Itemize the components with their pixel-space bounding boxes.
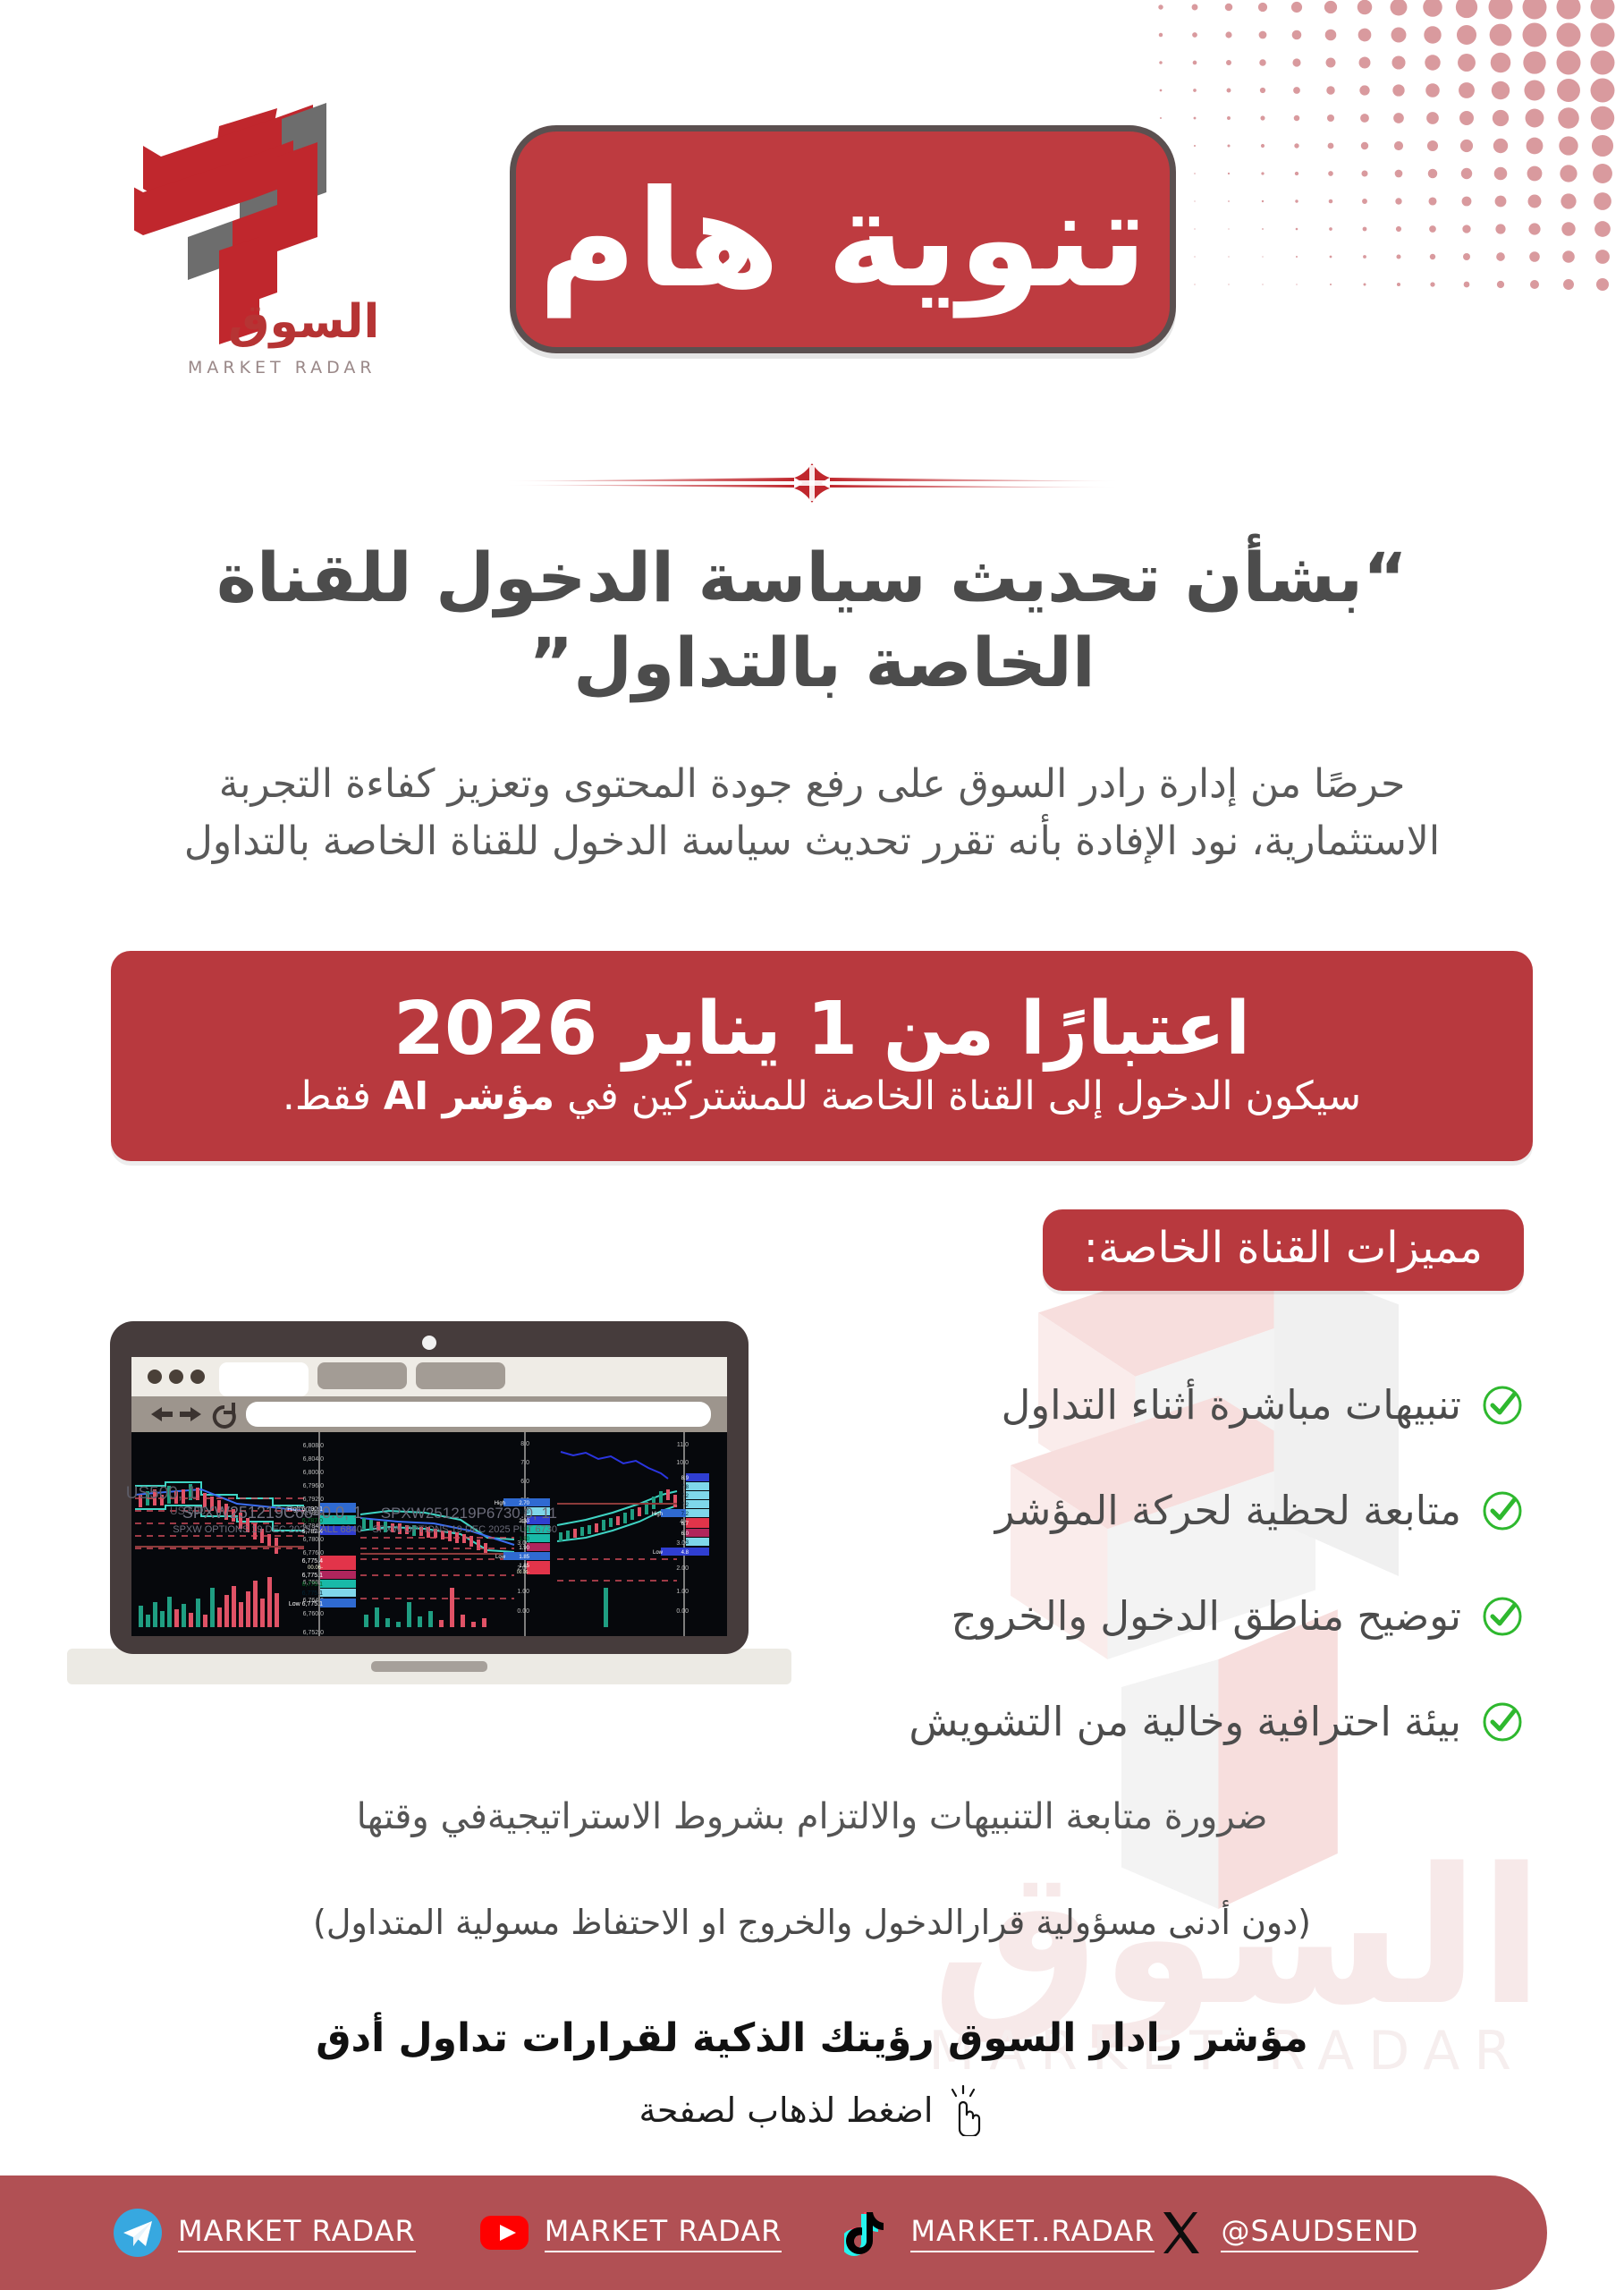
- notice-badge-label: تنوية هام: [538, 173, 1147, 307]
- svg-text:6,752.0: 6,752.0: [303, 1630, 324, 1636]
- check-circle-icon: [1481, 1701, 1524, 1743]
- x-twitter-icon: [1155, 2207, 1206, 2259]
- page-title: “بشأن تحديث سياسة الدخول للقناة الخاصة ب…: [0, 535, 1624, 705]
- svg-text:6.7: 6.7: [681, 1522, 689, 1527]
- social-label: @SAUDSEND: [1221, 2214, 1418, 2252]
- svg-text:-00.06: -00.06: [517, 1570, 530, 1575]
- svg-text:Low: Low: [495, 1555, 506, 1560]
- brand-name-en: MARKET RADAR: [188, 358, 376, 377]
- note-disclaimer: (دون أدنى مسؤولية قرارالدخول والخروج او …: [0, 1901, 1624, 1945]
- detail-post: فقط.: [283, 1073, 384, 1119]
- chart-symbol-label: US500, 1: [126, 1484, 197, 1503]
- svg-text:1.00: 1.00: [517, 1589, 529, 1595]
- svg-text:6,804.0: 6,804.0: [303, 1456, 324, 1463]
- social-link-tiktok[interactable]: MARKET..RADAR: [844, 2207, 1155, 2259]
- ornamental-divider-icon: [499, 452, 1125, 514]
- youtube-icon: [478, 2207, 530, 2259]
- address-bar: [246, 1402, 711, 1427]
- svg-text:6,776.0: 6,776.0: [303, 1550, 324, 1556]
- social-link-x[interactable]: @SAUDSEND: [1155, 2207, 1418, 2259]
- svg-text:7.8: 7.8: [681, 1485, 689, 1490]
- social-link-youtube[interactable]: MARKET RADAR: [478, 2207, 782, 2259]
- browser-tab-active: [219, 1362, 309, 1396]
- svg-text:6,780.0: 6,780.0: [303, 1537, 324, 1543]
- note-obligation: ضرورة متابعة التنبيهات والالتزام بشروط ا…: [0, 1794, 1624, 1840]
- svg-text:7.2: 7.2: [681, 1494, 689, 1499]
- svg-text:6,808.0: 6,808.0: [303, 1443, 324, 1449]
- svg-text:5.3: 5.3: [681, 1540, 689, 1546]
- svg-text:1.00: 1.00: [676, 1589, 689, 1595]
- svg-text:6,792.0: 6,792.0: [303, 1497, 324, 1503]
- chart-desc-label: SPXW OPTIONS 19 DEC 2025 PUT 6730: [373, 1524, 557, 1535]
- svg-text:8.0: 8.0: [520, 1441, 529, 1447]
- svg-text:High: High: [652, 1512, 663, 1517]
- laptop-device: US500, 1 US 500 6,808.06,804.06,800.0 6,…: [67, 1319, 791, 1700]
- svg-text:Low 6,775.1: Low 6,775.1: [289, 1601, 323, 1607]
- social-label: MARKET RADAR: [178, 2214, 416, 2252]
- svg-text:10.0: 10.0: [676, 1460, 689, 1466]
- svg-text:1.85: 1.85: [519, 1564, 529, 1569]
- social-link-telegram[interactable]: MARKET RADAR: [112, 2207, 416, 2259]
- svg-text:6,760.0: 6,760.0: [303, 1611, 324, 1617]
- svg-text:6,775.1: 6,775.1: [302, 1582, 323, 1588]
- feature-label: بيئة احترافية وخالية من التشويش: [909, 1699, 1461, 1745]
- svg-text:0.00: 0.00: [676, 1608, 689, 1615]
- social-footer: @SAUDSEND MARKET..RADAR MARKET RADAR: [0, 2175, 1547, 2290]
- features-section-title: مميزات القناة الخاصة:: [1043, 1209, 1524, 1291]
- window-dots: [148, 1370, 162, 1384]
- svg-text:6,775.1: 6,775.1: [302, 1590, 323, 1597]
- cta-row[interactable]: اضغط لذهاب لصفحة: [0, 2084, 1624, 2136]
- svg-text:2.00: 2.00: [676, 1565, 689, 1572]
- svg-text:6,775.1: 6,775.1: [302, 1573, 323, 1579]
- svg-text:1.85: 1.85: [519, 1555, 529, 1560]
- feature-label: متابعة لحظية لحركة المؤشر: [995, 1488, 1461, 1534]
- chart-desc-label: SPXW OPTIONS 19 DEC 2025 CALL 6840: [173, 1524, 362, 1535]
- laptop-trackpad-notch: [371, 1661, 487, 1672]
- svg-text:6.0: 6.0: [681, 1531, 689, 1537]
- tiktok-icon: [844, 2207, 896, 2259]
- svg-text:0.00: 0.00: [517, 1608, 529, 1615]
- svg-text:7.0: 7.0: [520, 1460, 529, 1466]
- svg-text:-00.06: -00.06: [308, 1565, 323, 1571]
- detail-pre: سيكون الدخول إلى القناة الخاصة للمشتركين…: [554, 1073, 1361, 1119]
- social-label: MARKET RADAR: [545, 2214, 782, 2252]
- list-item: متابعة لحظية لحركة المؤشر: [773, 1458, 1524, 1564]
- laptop-camera-icon: [422, 1336, 436, 1350]
- social-label: MARKET..RADAR: [910, 2214, 1155, 2252]
- important-notice-badge: تنوية هام: [510, 125, 1176, 353]
- svg-text:7.2: 7.2: [681, 1512, 689, 1517]
- chart-symbol-label: SPXW251219P6730.0, 11: [381, 1505, 557, 1522]
- feature-label: تنبيهات مباشرة أثناء التداول: [1002, 1382, 1461, 1429]
- svg-text:7.2: 7.2: [681, 1503, 689, 1508]
- tagline: مؤشر رادار السوق رؤيتك الذكية لقرارات تد…: [0, 2013, 1624, 2064]
- features-title-label: مميزات القناة الخاصة:: [1084, 1223, 1483, 1273]
- telegram-icon: [112, 2207, 164, 2259]
- cta-label: اضغط لذهاب لصفحة: [639, 2093, 934, 2127]
- svg-text:6,796.0: 6,796.0: [303, 1483, 324, 1489]
- feature-label: توضيح مناطق الدخول والخروج: [952, 1593, 1461, 1640]
- svg-text:6,800.0: 6,800.0: [303, 1470, 324, 1476]
- header: السوق MARKET RADAR تنوية هام: [0, 0, 1624, 447]
- svg-text:4.8: 4.8: [681, 1550, 689, 1556]
- svg-text:Low: Low: [653, 1550, 664, 1556]
- list-item: تنبيهات مباشرة أثناء التداول: [773, 1353, 1524, 1458]
- chart-symbol-label: SPXW251219C6840.0, 1: [182, 1504, 362, 1522]
- effective-date-detail: سيكون الدخول إلى القناة الخاصة للمشتركين…: [256, 1073, 1388, 1121]
- browser-tab: [317, 1362, 407, 1389]
- browser-tab: [416, 1362, 505, 1389]
- intro-paragraph: حرصًا من إدارة رادر السوق على رفع جودة ا…: [0, 756, 1624, 870]
- list-item: توضيح مناطق الدخول والخروج: [773, 1564, 1524, 1669]
- detail-strong: مؤشر AI: [384, 1073, 554, 1119]
- click-hand-icon: [942, 2084, 985, 2136]
- brand-name-ar: السوق: [228, 295, 379, 349]
- check-circle-icon: [1481, 1489, 1524, 1532]
- svg-text:1.90: 1.90: [519, 1537, 529, 1542]
- svg-text:6,775.4: 6,775.4: [302, 1558, 323, 1565]
- check-circle-icon: [1481, 1595, 1524, 1638]
- svg-text:1.90: 1.90: [519, 1546, 529, 1551]
- list-item: بيئة احترافية وخالية من التشويش: [773, 1669, 1524, 1775]
- feature-list: تنبيهات مباشرة أثناء التداول متابعة لحظي…: [773, 1353, 1524, 1775]
- effective-date-line: اعتبارًا من 1 يناير 2026: [393, 991, 1250, 1068]
- svg-text:8.9: 8.9: [681, 1476, 689, 1481]
- svg-text:6.0: 6.0: [520, 1479, 529, 1485]
- svg-text:11.0: 11.0: [677, 1442, 689, 1448]
- check-circle-icon: [1481, 1384, 1524, 1427]
- effective-date-banner: اعتبارًا من 1 يناير 2026 سيكون الدخول إل…: [111, 951, 1533, 1161]
- poster-root: السوق MARKET RADAR السوق MARKET RADAR تن…: [0, 0, 1624, 2290]
